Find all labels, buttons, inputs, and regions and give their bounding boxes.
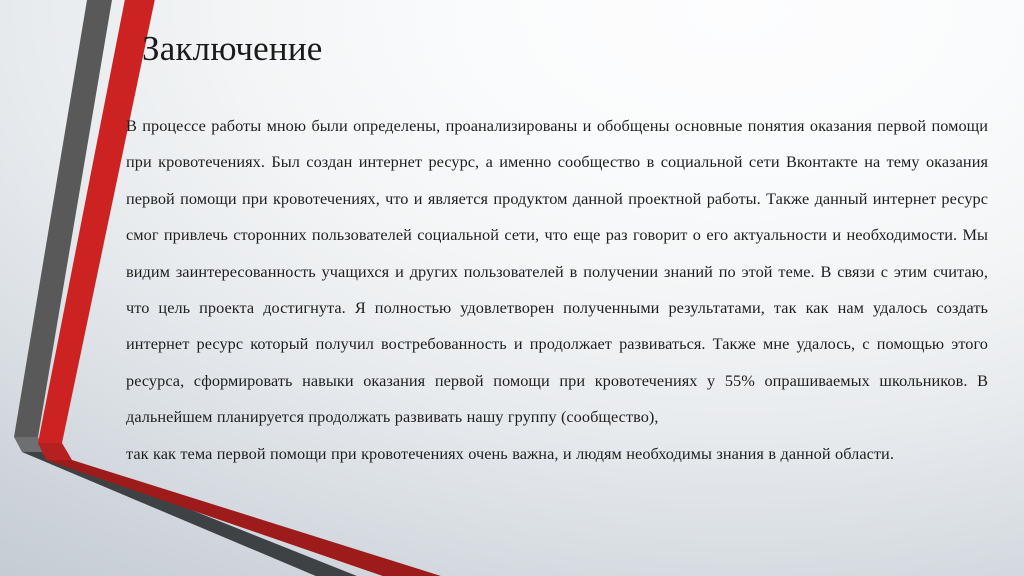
body-paragraph-2: так как тема первой помощи при кровотече… (126, 436, 988, 472)
body-paragraph-1: В процессе работы мною были определены, … (126, 108, 988, 436)
red-ribbon-lower-arm (46, 460, 460, 576)
grey-ribbon-fold (14, 437, 46, 452)
grey-ribbon-upper-arm (14, 0, 113, 437)
red-ribbon-fold (38, 443, 72, 460)
body-text-block: В процессе работы мною были определены, … (126, 108, 988, 472)
page-title: Заключение (142, 27, 962, 71)
slide-canvas: Заключение В процессе работы мною были о… (0, 0, 1024, 576)
